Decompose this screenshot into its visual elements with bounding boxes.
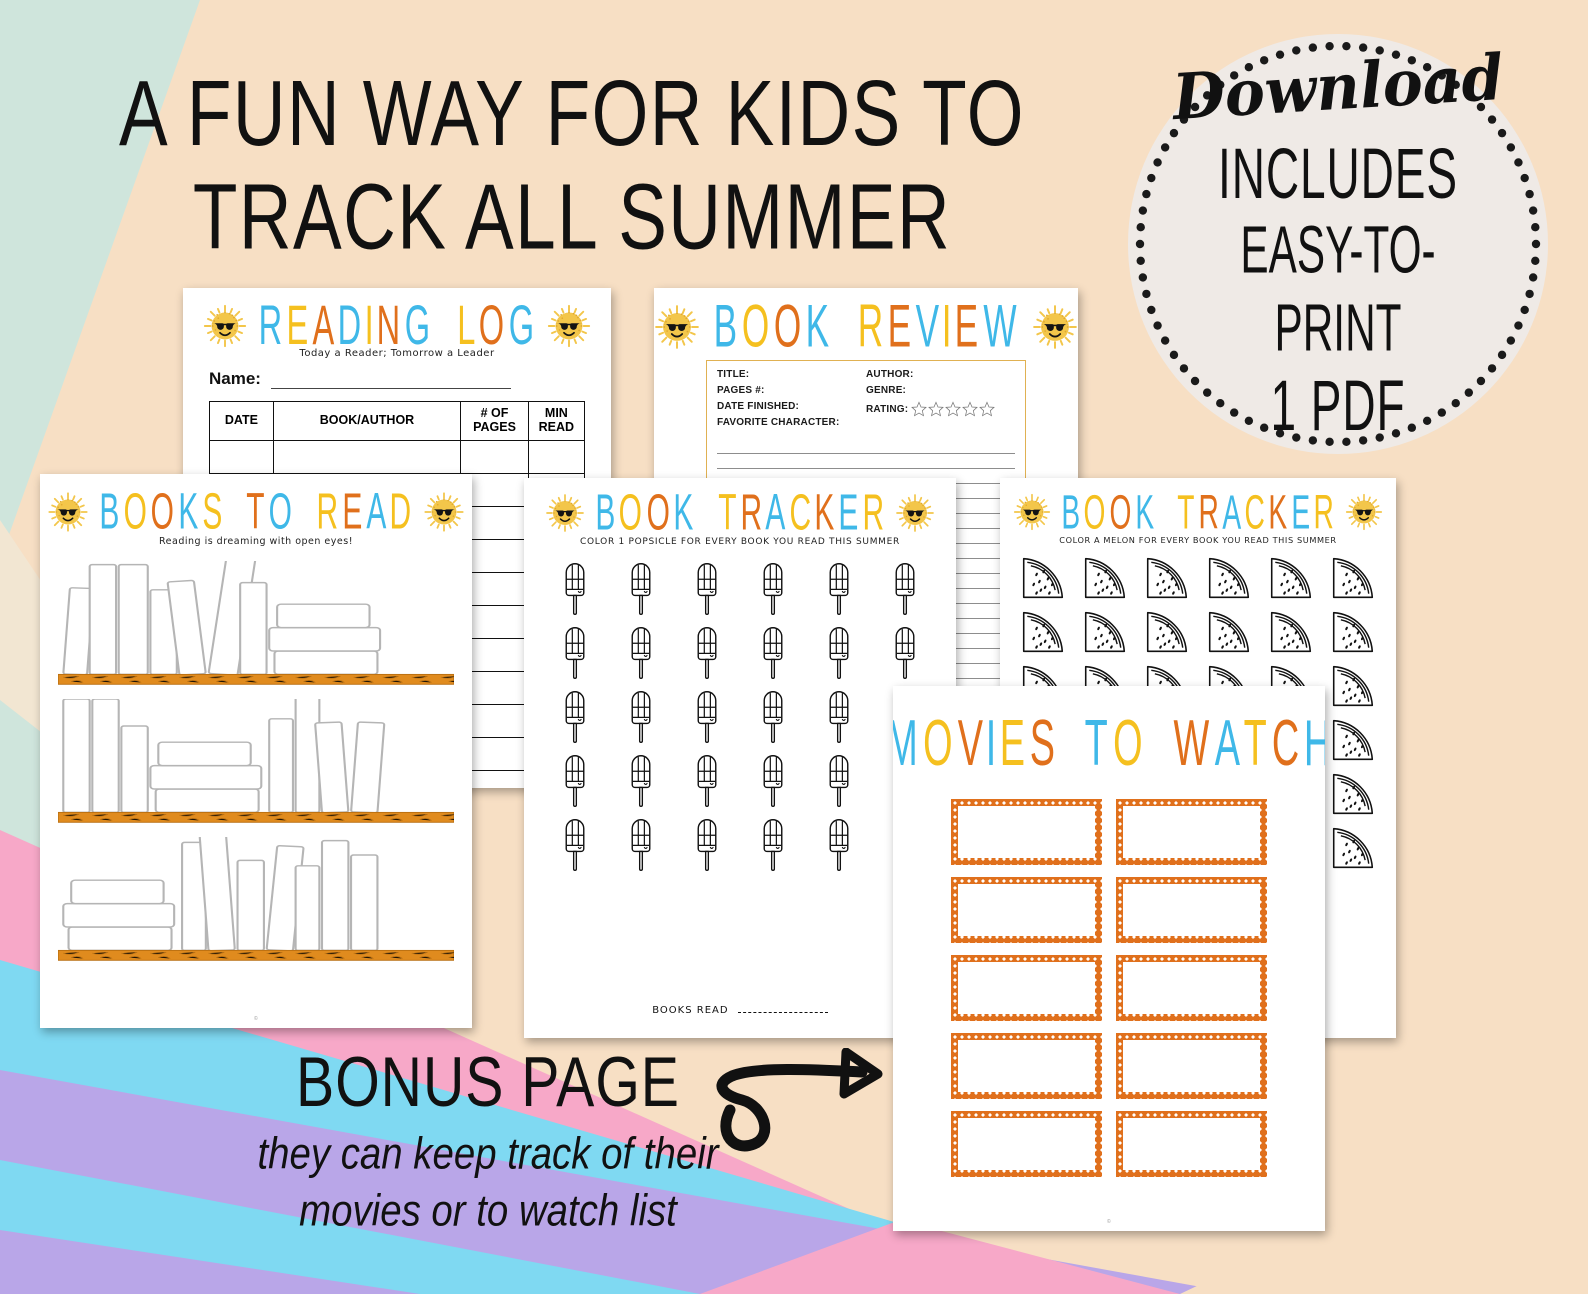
popsicle-icon	[608, 811, 674, 873]
tracker-melon-header: BOOK TRACKER	[1000, 478, 1396, 536]
title-letter: O	[774, 293, 802, 361]
title-letter: T	[1177, 484, 1195, 540]
title-letter: O	[124, 483, 148, 542]
popsicle-tracker-item[interactable]	[608, 619, 674, 681]
movie-entry-box[interactable]	[951, 1111, 1102, 1177]
popsicle-tracker-item[interactable]	[740, 811, 806, 873]
rating-stars[interactable]	[911, 401, 995, 417]
popsicle-icon	[674, 811, 740, 873]
sun-sunglasses-icon	[42, 486, 94, 538]
watermelon-tracker-item[interactable]	[1260, 607, 1322, 657]
book-review-header: BOOK REVIEW	[654, 288, 1078, 358]
title-letter: T	[1244, 708, 1268, 782]
title-letter: R	[858, 293, 884, 361]
title-letter: A	[766, 484, 787, 543]
popsicle-icon	[674, 747, 740, 809]
popsicle-tracker-item[interactable]	[806, 811, 872, 873]
title-letter: W	[983, 293, 1017, 361]
bonus-subtitle-line-2: movies or to watch list	[181, 1183, 795, 1240]
sheet-books-to-read[interactable]: BOOKS TO READ Reading is dreaming with o…	[40, 474, 472, 1028]
popsicle-icon	[806, 811, 872, 873]
title-letter: E	[955, 293, 979, 361]
popsicle-icon	[740, 555, 806, 617]
title-letter: I	[986, 708, 997, 782]
title-letter: O	[1110, 484, 1133, 540]
title-letter: O	[479, 295, 505, 358]
watermelon-icon	[1322, 769, 1384, 819]
bookshelf-row	[58, 837, 454, 963]
title-letter: K	[815, 484, 836, 543]
title-letter: E	[839, 484, 860, 543]
title-letter: T	[246, 483, 265, 542]
table-cell[interactable]	[461, 440, 529, 473]
title-letter: A	[1214, 708, 1240, 782]
name-label: Name:	[209, 369, 261, 389]
title-letter: V	[915, 293, 939, 361]
table-column-header: # OFPAGES	[461, 402, 529, 441]
popsicle-tracker-item[interactable]	[740, 747, 806, 809]
watermelon-icon	[1136, 607, 1198, 657]
popsicle-tracker-item[interactable]	[542, 811, 608, 873]
title-letter: S	[202, 483, 223, 542]
book-review-fields-right: AUTHOR:GENRE:RATING:	[866, 369, 1015, 433]
watermelon-tracker-item[interactable]	[1136, 553, 1198, 603]
popsicle-tracker-item[interactable]	[542, 555, 608, 617]
popsicle-icon	[674, 555, 740, 617]
popsicle-icon	[542, 811, 608, 873]
sun-sunglasses-icon	[1340, 488, 1388, 536]
movie-entry-box[interactable]	[1116, 877, 1267, 943]
watermelon-icon	[1012, 553, 1074, 603]
movie-entry-box[interactable]	[951, 1033, 1102, 1099]
books-to-read-title: BOOKS TO READ	[98, 493, 414, 532]
book-review-title: BOOK REVIEW	[712, 305, 1020, 350]
sun-sunglasses-icon	[1008, 488, 1056, 536]
title-letter: K	[1269, 484, 1289, 540]
writing-line[interactable]	[717, 454, 1015, 469]
title-letter	[296, 483, 314, 542]
badge-line-easy-to-print: EASY-TO-PRINT	[1180, 210, 1497, 366]
popsicle-tracker-item[interactable]	[806, 619, 872, 681]
headline-line-2: TRACK ALL SUMMER	[73, 166, 1071, 270]
table-column-header: BOOK/AUTHOR	[273, 402, 461, 441]
title-letter	[225, 483, 243, 542]
title-letter	[697, 484, 715, 543]
title-letter: M	[893, 708, 919, 782]
popsicle-tracker-item[interactable]	[674, 683, 740, 745]
watermelon-tracker-item[interactable]	[1322, 769, 1384, 819]
popsicle-icon	[740, 747, 806, 809]
watermelon-tracker-item[interactable]	[1198, 607, 1260, 657]
popsicle-tracker-item[interactable]	[608, 683, 674, 745]
movie-entry-box[interactable]	[951, 877, 1102, 943]
bookshelf-row	[58, 699, 454, 825]
popsicle-icon	[674, 683, 740, 745]
popsicle-tracker-item[interactable]	[872, 619, 938, 681]
title-letter: B	[595, 484, 616, 543]
title-letter: K	[1135, 484, 1155, 540]
popsicle-tracker-item[interactable]	[674, 747, 740, 809]
watermelon-icon	[1074, 553, 1136, 603]
sun-sunglasses-icon	[541, 298, 597, 354]
watermelon-tracker-item[interactable]	[1322, 715, 1384, 765]
book-review-field-label: DATE FINISHED:	[717, 401, 866, 412]
movie-entry-box[interactable]	[1116, 955, 1267, 1021]
bookshelf-row	[58, 561, 454, 687]
title-letter	[1158, 484, 1175, 540]
title-letter: W	[1174, 708, 1211, 782]
reading-log-title: READING LOG	[257, 305, 536, 347]
popsicle-tracker-item[interactable]	[608, 747, 674, 809]
title-letter: E	[888, 293, 912, 361]
title-letter: D	[390, 483, 412, 542]
watermelon-icon	[1322, 823, 1384, 873]
book-review-field-label: PAGES #:	[717, 385, 866, 396]
sun-sunglasses-icon	[540, 488, 590, 538]
download-badge: Download INCLUDES EASY-TO-PRINT 1 PDF	[1128, 34, 1548, 454]
popsicle-icon	[806, 619, 872, 681]
title-letter: O	[151, 483, 175, 542]
watermelon-tracker-item[interactable]	[1322, 607, 1384, 657]
sun-sunglasses-icon	[1026, 298, 1078, 356]
watermelon-tracker-item[interactable]	[1074, 553, 1136, 603]
title-letter: A	[312, 295, 335, 358]
popsicle-icon	[608, 683, 674, 745]
title-letter: I	[365, 295, 375, 358]
title-letter: C	[1272, 708, 1300, 782]
popsicle-tracker-item[interactable]	[674, 811, 740, 873]
popsicle-icon	[542, 683, 608, 745]
popsicle-tracker-item[interactable]	[608, 811, 674, 873]
headline-line-1: A FUN WAY FOR KIDS TO	[73, 62, 1071, 166]
books-to-read-header: BOOKS TO READ	[40, 474, 472, 538]
title-letter: H	[1304, 708, 1325, 782]
watermelon-icon	[1012, 607, 1074, 657]
movie-box-grid	[893, 769, 1325, 1177]
table-cell[interactable]	[528, 440, 584, 473]
watermelon-tracker-item[interactable]	[1074, 607, 1136, 657]
title-letter: K	[674, 484, 695, 543]
sheet-book-tracker-popsicle[interactable]: BOOK TRACKER COLOR 1 POPSICLE FOR EVERY …	[524, 478, 956, 1038]
table-header-row: DATEBOOK/AUTHOR# OFPAGESMINREAD	[210, 402, 585, 441]
table-cell[interactable]	[210, 440, 274, 473]
title-letter: L	[457, 295, 476, 358]
title-letter: R	[317, 483, 339, 542]
popsicle-icon	[608, 555, 674, 617]
title-letter: K	[806, 293, 830, 361]
watermelon-icon	[1074, 607, 1136, 657]
popsicle-tracker-item[interactable]	[674, 555, 740, 617]
movie-entry-box[interactable]	[951, 799, 1102, 865]
bookshelf-container	[40, 547, 472, 963]
watermelon-tracker-item[interactable]	[1322, 553, 1384, 603]
popsicle-tracker-item[interactable]	[740, 683, 806, 745]
popsicle-icon	[806, 747, 872, 809]
popsicle-tracker-item[interactable]	[542, 619, 608, 681]
watermelon-icon	[1322, 661, 1384, 711]
title-letter: O	[742, 293, 770, 361]
title-letter: R	[1198, 484, 1219, 540]
reading-log-header: READING LOG	[183, 288, 611, 354]
popsicle-tracker-item[interactable]	[806, 555, 872, 617]
watermelon-icon	[1198, 553, 1260, 603]
badge-line-pdf-count: 1 PDF	[1176, 365, 1500, 447]
watermelon-icon	[1260, 607, 1322, 657]
table-column-header: MINREAD	[528, 402, 584, 441]
title-letter: R	[259, 295, 283, 358]
popsicle-tracker-item[interactable]	[740, 619, 806, 681]
book-review-field-label: GENRE:	[866, 385, 1015, 396]
title-letter: O	[1113, 708, 1143, 782]
name-input-line[interactable]	[271, 373, 511, 389]
title-letter: T	[718, 484, 737, 543]
popsicle-icon	[674, 619, 740, 681]
title-letter: G	[509, 295, 535, 358]
title-letter: A	[1222, 484, 1242, 540]
sheet-footer-credit: ©	[893, 1219, 1325, 1225]
page-headline: A FUN WAY FOR KIDS TO TRACK ALL SUMMER	[73, 62, 1071, 270]
popsicle-icon	[542, 619, 608, 681]
title-letter: B	[100, 483, 121, 542]
sun-sunglasses-icon	[418, 486, 470, 538]
title-letter: O	[619, 484, 643, 543]
tracker-melon-title: BOOK TRACKER	[1060, 494, 1336, 531]
title-letter: O	[269, 483, 293, 542]
title-letter	[1147, 708, 1170, 782]
title-letter: A	[366, 483, 387, 542]
title-letter: T	[1085, 708, 1109, 782]
popsicle-icon	[872, 555, 938, 617]
title-letter: N	[377, 295, 401, 358]
book-review-field-label: FAVORITE CHARACTER:	[717, 417, 866, 428]
popsicle-icon	[872, 619, 938, 681]
title-letter: K	[178, 483, 199, 542]
popsicle-tracker-item[interactable]	[608, 555, 674, 617]
title-letter	[833, 293, 854, 361]
badge-line-includes: INCLUDES	[1176, 133, 1500, 215]
book-review-fields-left: TITLE:PAGES #:DATE FINISHED:FAVORITE CHA…	[717, 369, 866, 433]
movie-entry-box[interactable]	[1116, 1033, 1267, 1099]
watermelon-icon	[1198, 607, 1260, 657]
table-column-header: DATE	[210, 402, 274, 441]
title-letter: S	[1030, 708, 1056, 782]
watermelon-icon	[1322, 715, 1384, 765]
title-letter: E	[1291, 484, 1311, 540]
movie-entry-box[interactable]	[951, 955, 1102, 1021]
popsicle-icon	[740, 811, 806, 873]
badge-line-download: Download	[1160, 41, 1516, 136]
popsicle-icon	[608, 619, 674, 681]
sun-sunglasses-icon	[890, 488, 940, 538]
title-letter: V	[957, 708, 983, 782]
table-row[interactable]	[210, 440, 585, 473]
title-letter: I	[942, 293, 953, 361]
popsicle-icon	[542, 555, 608, 617]
title-letter: E	[342, 483, 363, 542]
popsicle-tracker-item[interactable]	[806, 747, 872, 809]
book-review-field-label: TITLE:	[717, 369, 866, 380]
watermelon-tracker-item[interactable]	[1012, 607, 1074, 657]
title-letter: O	[923, 708, 953, 782]
popsicle-icon	[608, 747, 674, 809]
popsicle-grid	[524, 547, 956, 873]
title-letter: R	[740, 484, 762, 543]
movie-entry-box[interactable]	[1116, 1111, 1267, 1177]
title-letter: O	[646, 484, 670, 543]
title-letter: G	[405, 295, 431, 358]
popsicle-tracker-item[interactable]	[542, 747, 608, 809]
name-field-row[interactable]: Name:	[183, 359, 611, 389]
watermelon-icon	[1260, 553, 1322, 603]
watermelon-tracker-item[interactable]	[1260, 553, 1322, 603]
bonus-subtitle-line-1: they can keep track of their	[181, 1126, 795, 1183]
title-letter: D	[338, 295, 362, 358]
watermelon-tracker-item[interactable]	[1136, 607, 1198, 657]
title-letter: C	[1245, 484, 1266, 540]
books-read-label: BOOKS READ	[652, 1005, 728, 1016]
title-letter: E	[287, 295, 310, 358]
curly-arrow-icon	[712, 1048, 892, 1158]
tracker-popsicle-header: BOOK TRACKER	[524, 478, 956, 538]
popsicle-tracker-item[interactable]	[740, 555, 806, 617]
title-letter: O	[1084, 484, 1107, 540]
title-letter: R	[862, 484, 884, 543]
title-letter: C	[789, 484, 811, 543]
popsicle-icon	[542, 747, 608, 809]
title-letter	[1059, 708, 1082, 782]
popsicle-tracker-item[interactable]	[674, 619, 740, 681]
movie-entry-box[interactable]	[1116, 799, 1267, 865]
watermelon-tracker-item[interactable]	[1012, 553, 1074, 603]
sheet-movies-to-watch[interactable]: MOVIES TO WATCH ©	[893, 686, 1325, 1231]
popsicle-tracker-item[interactable]	[872, 555, 938, 617]
books-read-footer[interactable]: BOOKS READ	[524, 1005, 956, 1016]
books-read-input-line[interactable]	[738, 1012, 828, 1013]
watermelon-icon	[1322, 607, 1384, 657]
title-letter	[434, 295, 454, 358]
movies-to-watch-title: MOVIES TO WATCH	[893, 686, 1325, 769]
title-letter: E	[1000, 708, 1026, 782]
book-review-field-label: AUTHOR:	[866, 369, 1015, 380]
sheet-footer-credit: ©	[40, 1016, 472, 1022]
watermelon-tracker-item[interactable]	[1198, 553, 1260, 603]
tracker-popsicle-title: BOOK TRACKER	[594, 494, 887, 533]
book-review-field-label: RATING:	[866, 401, 1015, 417]
sun-sunglasses-icon	[197, 298, 253, 354]
popsicle-tracker-item[interactable]	[542, 683, 608, 745]
bonus-title: BONUS PAGE	[178, 1041, 799, 1123]
popsicle-icon	[806, 555, 872, 617]
popsicle-icon	[806, 683, 872, 745]
watermelon-icon	[1322, 553, 1384, 603]
popsicle-tracker-item[interactable]	[806, 683, 872, 745]
watermelon-tracker-item[interactable]	[1322, 661, 1384, 711]
popsicle-icon	[740, 619, 806, 681]
writing-line[interactable]	[717, 439, 1015, 454]
bonus-subtitle: they can keep track of their movies or t…	[181, 1126, 795, 1241]
sun-sunglasses-icon	[654, 298, 706, 356]
title-letter: B	[714, 293, 738, 361]
title-letter: R	[1313, 484, 1334, 540]
title-letter: B	[1061, 484, 1081, 540]
table-cell[interactable]	[273, 440, 461, 473]
watermelon-tracker-item[interactable]	[1322, 823, 1384, 873]
popsicle-icon	[740, 683, 806, 745]
watermelon-icon	[1136, 553, 1198, 603]
